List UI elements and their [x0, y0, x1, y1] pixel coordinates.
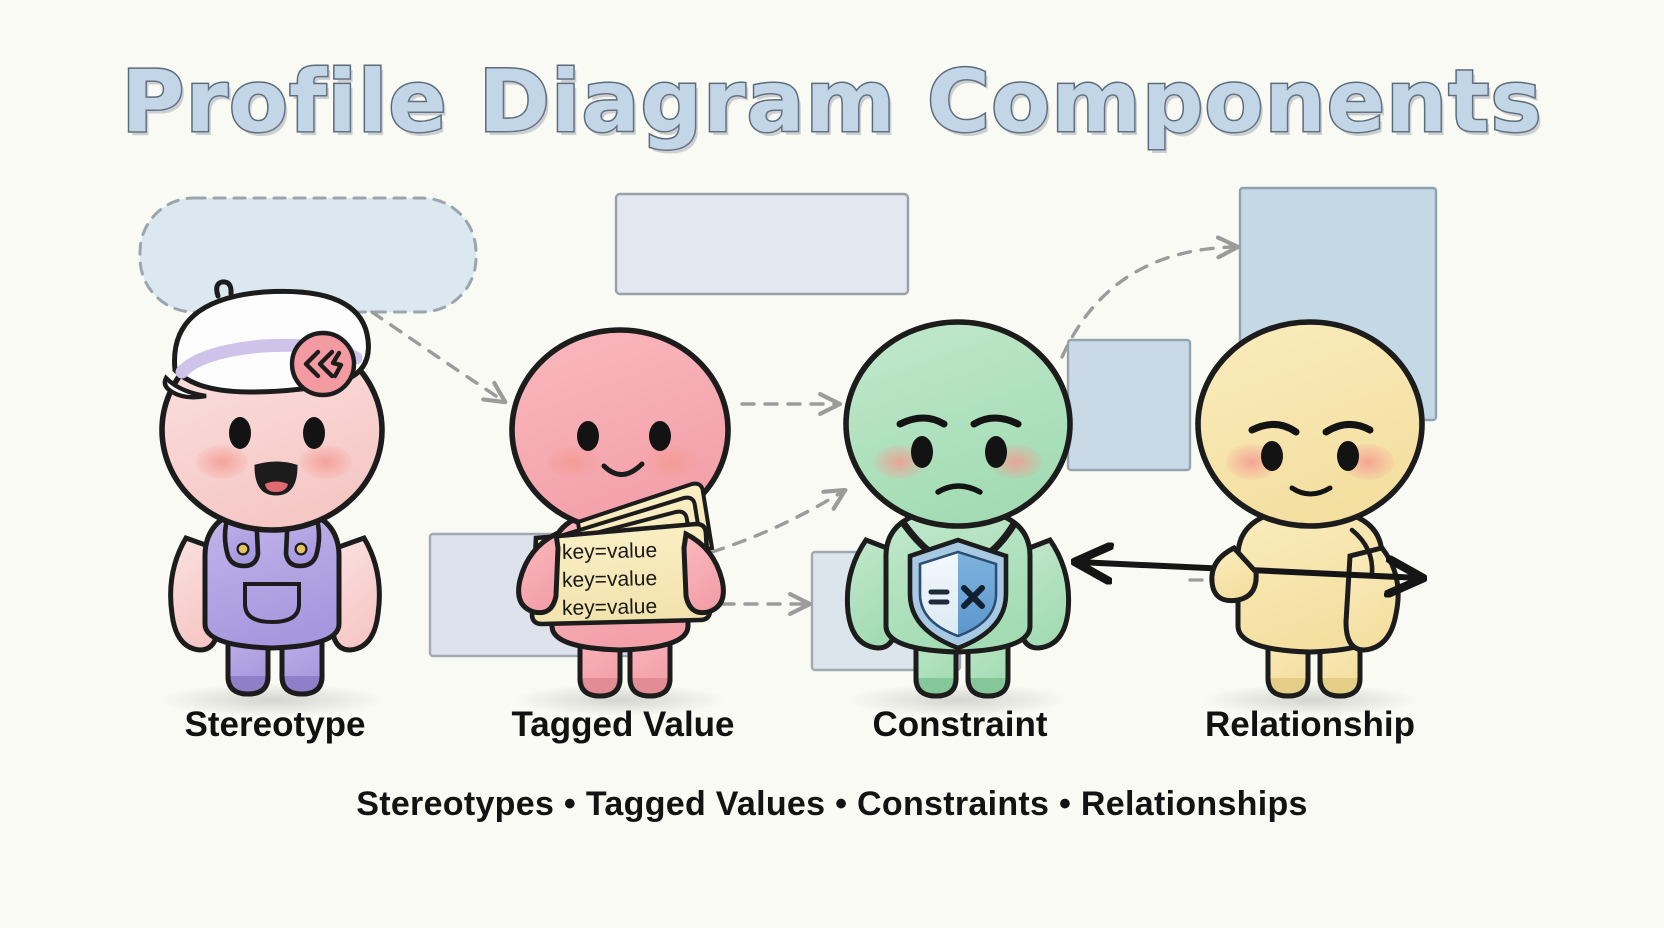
eye-right [303, 417, 325, 449]
label-relationship: Relationship [1130, 705, 1490, 745]
uml-box-behind-constraint [1068, 340, 1190, 470]
caption-container: Stereotypes • Tagged Values • Constraint… [0, 785, 1664, 824]
card-line-3: key=value [562, 593, 658, 623]
caption-text: Stereotypes • Tagged Values • Constraint… [356, 785, 1308, 823]
dashed-arrow-bubble-to-tagged [372, 312, 502, 400]
eye-left [911, 436, 933, 468]
eye-left [229, 417, 251, 449]
cheek-right [647, 446, 697, 478]
eye-right [649, 421, 671, 451]
cheek-right [300, 445, 352, 479]
card-line-2: key=value [562, 565, 658, 595]
character-labels: Stereotype Tagged Value Constraint Relat… [0, 705, 1664, 765]
label-stereotype: Stereotype [95, 705, 455, 745]
eye-right [985, 436, 1007, 468]
overall-button-left [238, 544, 249, 555]
label-tagged-value: Tagged Value [443, 705, 803, 745]
stereotype-badge-icon [292, 333, 354, 395]
poster-canvas: Profile Diagram Components key=value key… [0, 0, 1664, 928]
uml-box-top-center [616, 194, 908, 294]
eye-right [1337, 441, 1359, 471]
overall-button-right [296, 544, 307, 555]
cheek-left [196, 445, 248, 479]
dashed-arrow-card-to-constraint [712, 492, 842, 552]
eye-left [1261, 441, 1283, 471]
character-stereotype[interactable] [162, 282, 382, 694]
eye-left [577, 421, 599, 451]
character-constraint[interactable] [846, 322, 1070, 696]
label-constraint: Constraint [780, 705, 1140, 745]
card-line-1: key=value [562, 537, 658, 567]
